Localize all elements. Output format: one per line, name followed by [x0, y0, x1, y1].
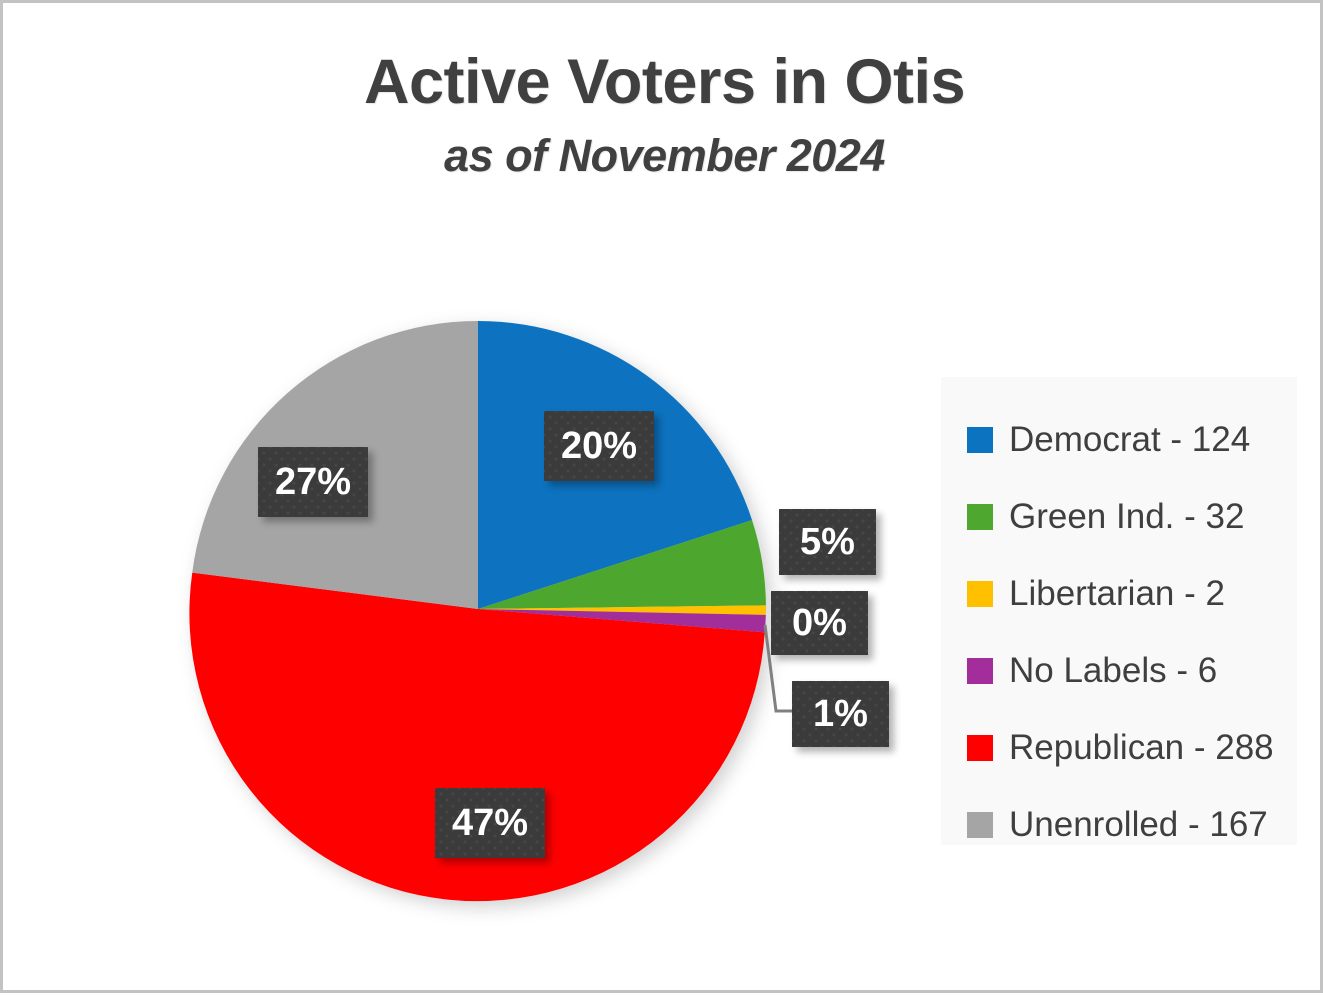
- legend-swatch-green-ind: [967, 504, 993, 530]
- data-label-no-labels: 1%: [792, 681, 889, 747]
- legend-label-green-ind: Green Ind. - 32: [1009, 497, 1244, 537]
- legend-label-libertarian: Libertarian - 2: [1009, 574, 1225, 614]
- legend-item-green-ind[interactable]: Green Ind. - 32: [967, 478, 1297, 555]
- legend-label-democrat: Democrat - 124: [1009, 420, 1250, 460]
- data-label-republican: 47%: [435, 788, 545, 858]
- chart-frame: Active Voters in Otis as of November 202…: [0, 0, 1323, 993]
- legend-swatch-libertarian: [967, 581, 993, 607]
- legend-swatch-republican: [967, 735, 993, 761]
- legend-item-no-labels[interactable]: No Labels - 6: [967, 632, 1297, 709]
- data-label-green-ind: 5%: [779, 509, 876, 575]
- legend-item-libertarian[interactable]: Libertarian - 2: [967, 555, 1297, 632]
- legend-item-unenrolled[interactable]: Unenrolled - 167: [967, 786, 1297, 863]
- legend-label-no-labels: No Labels - 6: [1009, 651, 1217, 691]
- legend-item-democrat[interactable]: Democrat - 124: [967, 401, 1297, 478]
- legend-swatch-unenrolled: [967, 812, 993, 838]
- legend: Democrat - 124 Green Ind. - 32 Libertari…: [941, 377, 1297, 845]
- legend-swatch-no-labels: [967, 658, 993, 684]
- data-label-libertarian: 0%: [771, 591, 868, 655]
- data-label-democrat: 20%: [544, 411, 654, 481]
- data-label-unenrolled: 27%: [258, 447, 368, 517]
- legend-label-unenrolled: Unenrolled - 167: [1009, 805, 1268, 845]
- legend-label-republican: Republican - 288: [1009, 728, 1274, 768]
- legend-swatch-democrat: [967, 427, 993, 453]
- legend-item-republican[interactable]: Republican - 288: [967, 709, 1297, 786]
